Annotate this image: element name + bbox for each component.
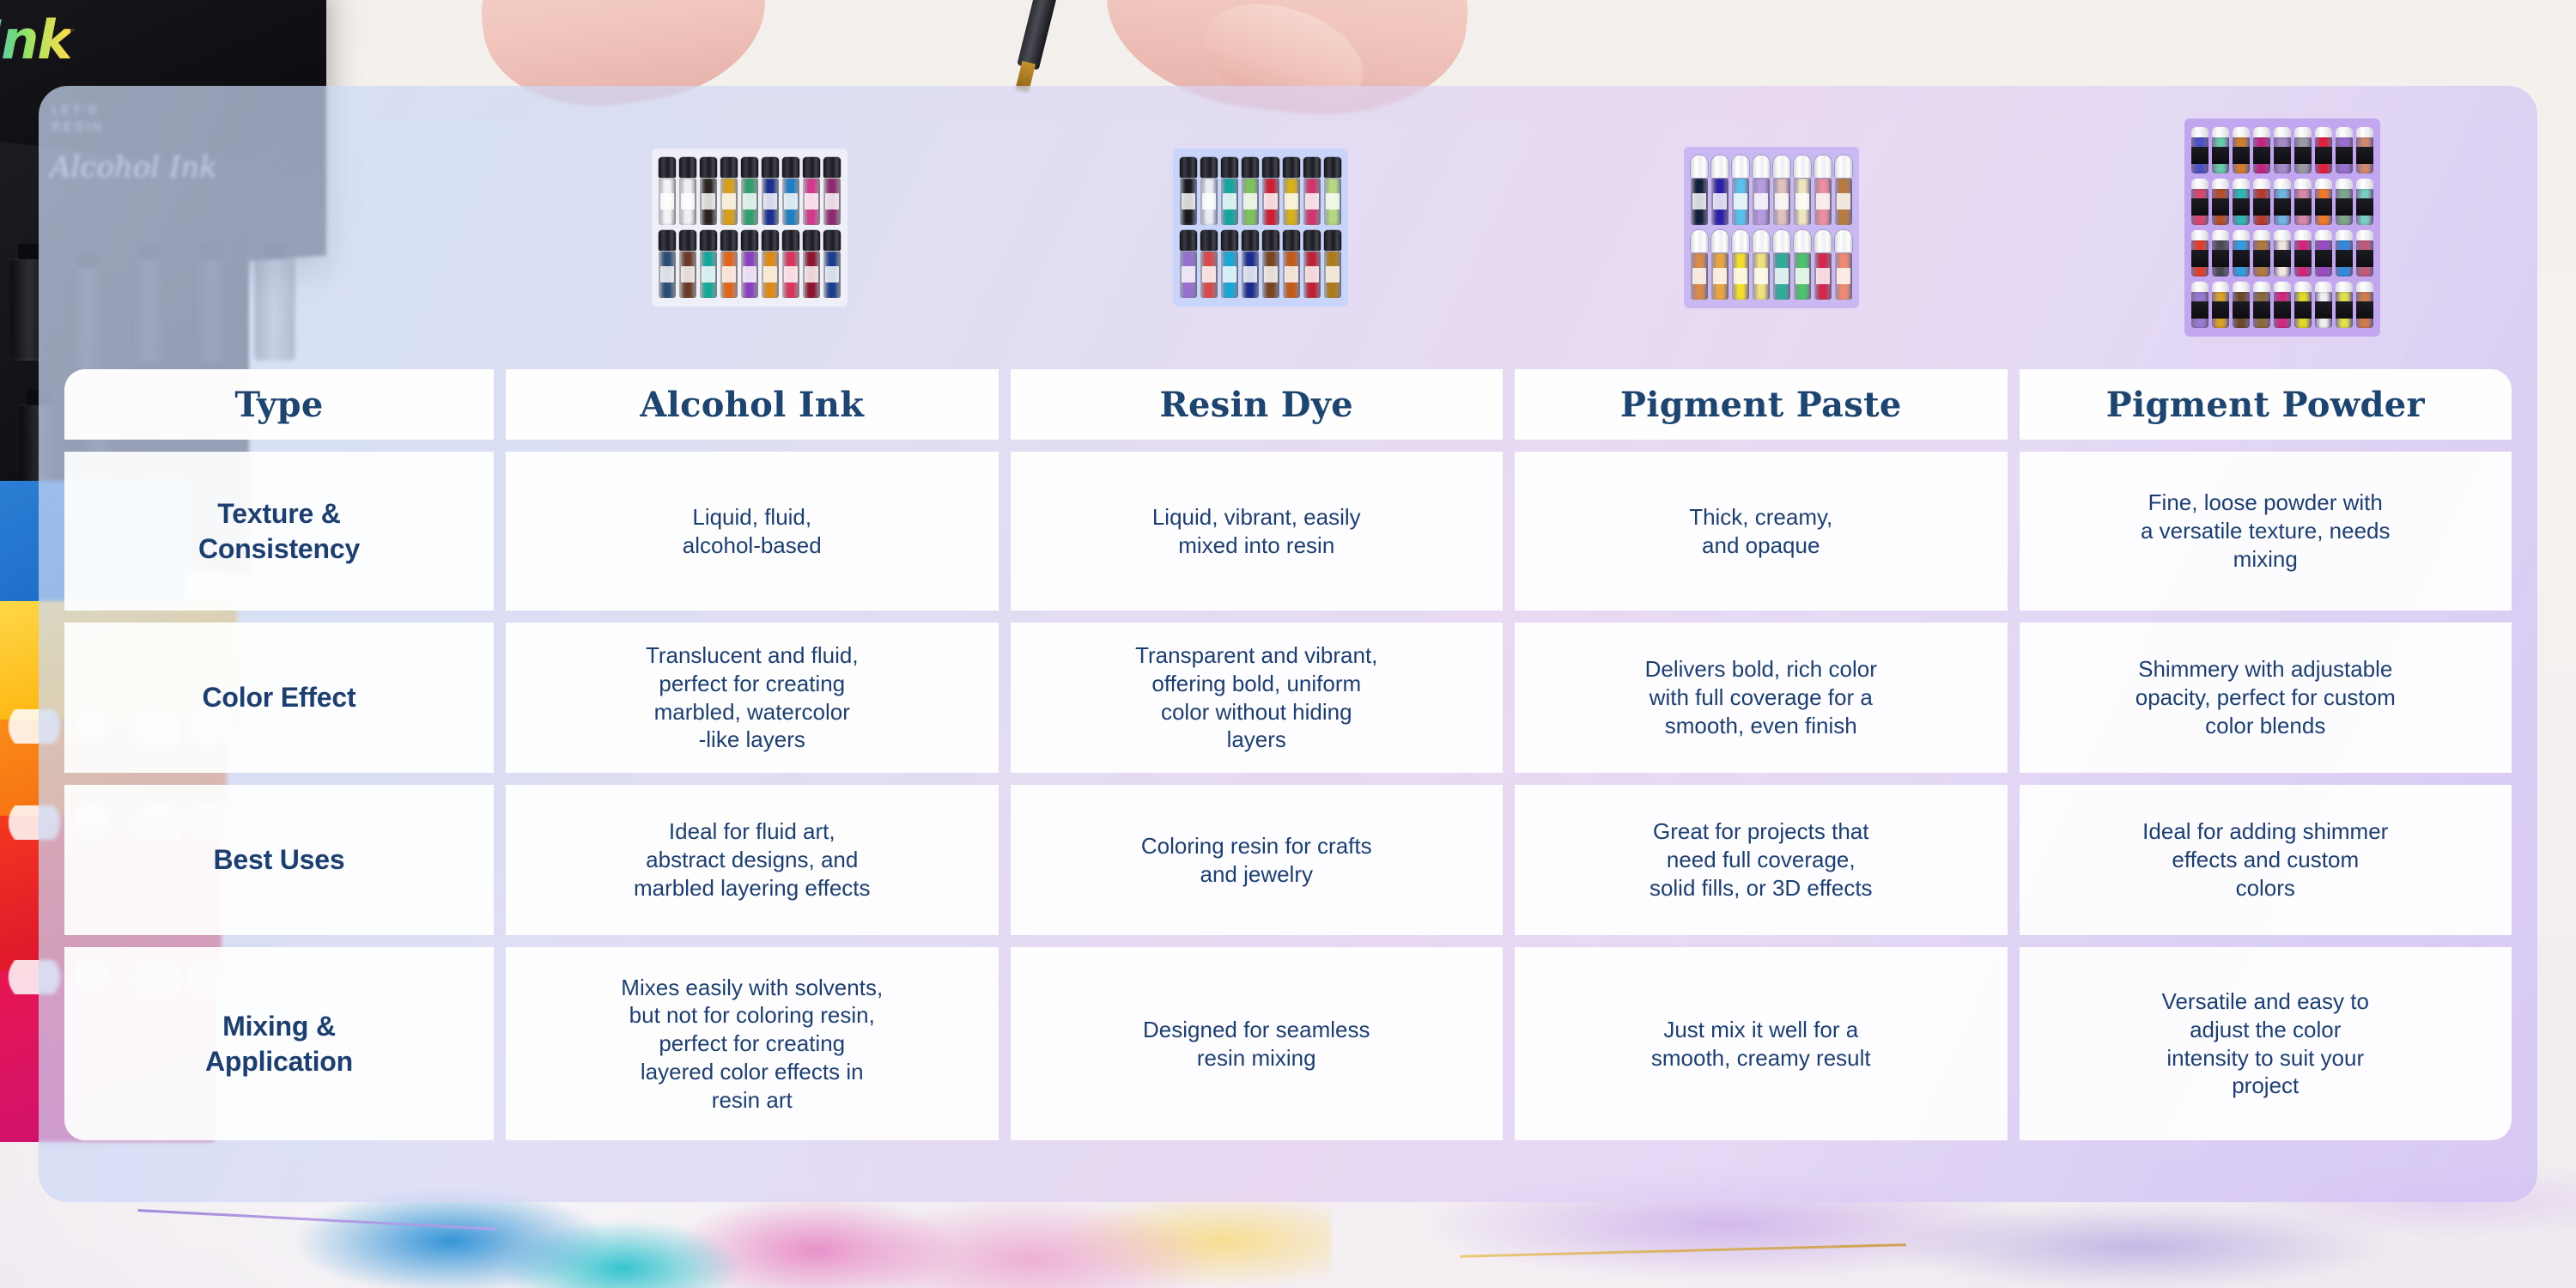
pigment-jar bbox=[2274, 230, 2291, 276]
pigment-jar bbox=[2315, 230, 2332, 276]
row-label-best-uses: Best Uses bbox=[64, 785, 494, 935]
product-body bbox=[2191, 137, 2208, 173]
table-row: Texture & Consistency Liquid, fluid, alc… bbox=[64, 452, 2512, 611]
product-bottle bbox=[782, 157, 799, 225]
bottle-cap bbox=[741, 230, 758, 251]
product-grid-row bbox=[659, 230, 841, 298]
product-body bbox=[2274, 189, 2291, 225]
jar-lid bbox=[2191, 230, 2208, 240]
header-cell-resin-dye: Resin Dye bbox=[1011, 369, 1504, 440]
pigment-jar bbox=[2315, 179, 2332, 225]
product-grid-row bbox=[1180, 157, 1341, 225]
jar-lid bbox=[2336, 230, 2353, 240]
product-bottle bbox=[1753, 230, 1770, 300]
bottle-cap bbox=[1711, 155, 1728, 178]
jar-lid bbox=[2233, 282, 2250, 292]
pigment-jar bbox=[2253, 127, 2270, 173]
product-body bbox=[2294, 292, 2312, 328]
bottle-cap bbox=[659, 230, 676, 251]
product-bottle bbox=[1753, 155, 1770, 225]
product-body bbox=[823, 252, 841, 298]
product-bottle bbox=[679, 230, 696, 298]
bottle-cap bbox=[1691, 230, 1708, 252]
bottle-cap bbox=[720, 230, 738, 251]
product-bottle bbox=[720, 230, 738, 298]
pigment-jar bbox=[2356, 230, 2373, 276]
bottle-cap bbox=[1242, 157, 1259, 178]
product-bottle bbox=[1283, 157, 1300, 225]
product-bottle bbox=[659, 230, 676, 298]
header-cell-type: Type bbox=[64, 369, 494, 440]
bottle-cap bbox=[1303, 157, 1321, 178]
cell-mixing-resin-dye: Designed for seamless resin mixing bbox=[1011, 947, 1504, 1140]
product-bottle bbox=[1732, 155, 1749, 225]
bottle-cap bbox=[803, 230, 820, 251]
product-body bbox=[2336, 137, 2353, 173]
box-ink-wordmark: Ink bbox=[0, 9, 70, 71]
jar-lid bbox=[2253, 282, 2270, 292]
bottle-cap bbox=[1753, 155, 1770, 178]
cell-best-pigment-powder: Ideal for adding shimmer effects and cus… bbox=[2020, 785, 2512, 935]
product-bottle bbox=[1242, 230, 1259, 298]
pigment-jar bbox=[2191, 127, 2208, 173]
jar-lid bbox=[2315, 282, 2332, 292]
product-body bbox=[1814, 253, 1832, 300]
pigment-jar bbox=[2233, 282, 2250, 328]
jar-lid bbox=[2274, 230, 2291, 240]
jar-lid bbox=[2294, 230, 2312, 240]
product-body bbox=[1221, 252, 1238, 298]
bottle-cap bbox=[1753, 230, 1770, 252]
jar-lid bbox=[2294, 179, 2312, 189]
bottle-cap bbox=[1242, 230, 1259, 251]
product-slot bbox=[2026, 86, 2537, 369]
product-body bbox=[762, 179, 779, 225]
product-body bbox=[659, 179, 676, 225]
product-body bbox=[720, 252, 738, 298]
bottle-cap bbox=[1200, 230, 1218, 251]
product-body bbox=[720, 179, 738, 225]
product-body bbox=[2336, 240, 2353, 276]
table-row: Color Effect Translucent and fluid, perf… bbox=[64, 623, 2512, 773]
jar-lid bbox=[2191, 179, 2208, 189]
product-bottle bbox=[1200, 230, 1218, 298]
pigment-paste-bottles bbox=[1684, 147, 1859, 308]
product-body bbox=[2315, 137, 2332, 173]
bottle-cap bbox=[1303, 230, 1321, 251]
pigment-jar bbox=[2253, 179, 2270, 225]
product-bottle bbox=[700, 230, 717, 298]
bottle-cap bbox=[1835, 155, 1852, 178]
bottle-cap bbox=[1835, 230, 1852, 252]
pigment-jar bbox=[2233, 127, 2250, 173]
product-bottle bbox=[1835, 155, 1852, 225]
product-body bbox=[2191, 240, 2208, 276]
product-bottle bbox=[782, 230, 799, 298]
pigment-jar bbox=[2336, 230, 2353, 276]
pigment-jar bbox=[2294, 230, 2312, 276]
product-body bbox=[762, 252, 779, 298]
cell-texture-alcohol-ink: Liquid, fluid, alcohol-based bbox=[506, 452, 999, 611]
pigment-jar bbox=[2294, 179, 2312, 225]
product-bottle bbox=[1283, 230, 1300, 298]
product-body bbox=[1753, 253, 1770, 300]
product-bottle bbox=[1814, 230, 1832, 300]
cell-mixing-pigment-powder: Versatile and easy to adjust the color i… bbox=[2020, 947, 2512, 1140]
header-cell-pigment-paste: Pigment Paste bbox=[1515, 369, 2008, 440]
product-body bbox=[1324, 179, 1341, 225]
product-body bbox=[2294, 189, 2312, 225]
pigment-jar bbox=[2356, 179, 2373, 225]
product-bottle bbox=[1794, 155, 1811, 225]
bottle-cap bbox=[1773, 230, 1790, 252]
pigment-jar bbox=[2212, 127, 2229, 173]
product-body bbox=[2191, 292, 2208, 328]
bottle-cap bbox=[823, 230, 841, 251]
bottle-cap bbox=[1324, 157, 1341, 178]
pigment-jar bbox=[2336, 282, 2353, 328]
cell-color-pigment-powder: Shimmery with adjustable opacity, perfec… bbox=[2020, 623, 2512, 773]
bottle-cap bbox=[679, 157, 696, 178]
product-body bbox=[2356, 137, 2373, 173]
product-body bbox=[1303, 252, 1321, 298]
table-row: Best Uses Ideal for fluid art, abstract … bbox=[64, 785, 2512, 935]
product-bottle bbox=[1221, 230, 1238, 298]
product-body bbox=[2212, 189, 2229, 225]
product-body bbox=[1835, 253, 1852, 300]
pigment-jar bbox=[2253, 230, 2270, 276]
product-body bbox=[2253, 292, 2270, 328]
product-bottle bbox=[1773, 155, 1790, 225]
product-body bbox=[2356, 189, 2373, 225]
bottle-cap bbox=[700, 157, 717, 178]
jar-lid bbox=[2233, 230, 2250, 240]
product-bottle bbox=[803, 157, 820, 225]
product-bottle bbox=[1303, 157, 1321, 225]
bottle-cap bbox=[1691, 155, 1708, 178]
product-body bbox=[1242, 179, 1259, 225]
product-bottle bbox=[1691, 155, 1708, 225]
bottle-cap bbox=[679, 230, 696, 251]
product-grid-row bbox=[1691, 230, 1852, 300]
bottle-cap bbox=[1221, 157, 1238, 178]
product-body bbox=[1773, 179, 1790, 225]
product-body bbox=[2233, 240, 2250, 276]
product-body bbox=[823, 179, 841, 225]
cell-best-alcohol-ink: Ideal for fluid art, abstract designs, a… bbox=[506, 785, 999, 935]
jar-lid bbox=[2253, 230, 2270, 240]
product-body bbox=[2253, 137, 2270, 173]
bottle-cap bbox=[762, 230, 779, 251]
product-bottle bbox=[1324, 157, 1341, 225]
bottle-cap bbox=[1732, 155, 1749, 178]
cell-color-resin-dye: Transparent and vibrant, offering bold, … bbox=[1011, 623, 1504, 773]
product-body bbox=[2253, 189, 2270, 225]
bottle-cap bbox=[1711, 230, 1728, 252]
product-bottle bbox=[679, 157, 696, 225]
product-body bbox=[1794, 179, 1811, 225]
jar-lid bbox=[2356, 127, 2373, 137]
cell-mixing-pigment-paste: Just mix it well for a smooth, creamy re… bbox=[1515, 947, 2008, 1140]
row-label-color-effect: Color Effect bbox=[64, 623, 494, 773]
product-body bbox=[2315, 189, 2332, 225]
product-slot bbox=[494, 86, 1005, 369]
product-body bbox=[741, 252, 758, 298]
cell-best-pigment-paste: Great for projects that need full covera… bbox=[1515, 785, 2008, 935]
jar-lid bbox=[2212, 230, 2229, 240]
bottle-cap bbox=[1794, 155, 1811, 178]
product-bottle bbox=[1711, 230, 1728, 300]
product-bottle bbox=[700, 157, 717, 225]
pigment-jar bbox=[2191, 230, 2208, 276]
product-body bbox=[1180, 252, 1197, 298]
product-bottle bbox=[741, 157, 758, 225]
resin-dye-bottles bbox=[1173, 149, 1348, 307]
product-grid-row bbox=[2191, 230, 2373, 276]
product-grid-row bbox=[1180, 230, 1341, 298]
product-body bbox=[1180, 179, 1197, 225]
product-body bbox=[2315, 240, 2332, 276]
product-slot bbox=[1005, 86, 1516, 369]
pigment-jar bbox=[2233, 179, 2250, 225]
bottle-cap bbox=[1200, 157, 1218, 178]
bottle-cap bbox=[1180, 230, 1197, 251]
jar-lid bbox=[2212, 282, 2229, 292]
product-body bbox=[2212, 137, 2229, 173]
bottle-cap bbox=[1732, 230, 1749, 252]
product-body bbox=[1262, 252, 1279, 298]
product-body bbox=[2212, 240, 2229, 276]
table-row: Mixing & Application Mixes easily with s… bbox=[64, 947, 2512, 1140]
pigment-jar bbox=[2191, 282, 2208, 328]
product-image-strip bbox=[39, 86, 2537, 369]
product-body bbox=[1303, 179, 1321, 225]
jar-lid bbox=[2294, 127, 2312, 137]
product-bottle bbox=[1773, 230, 1790, 300]
product-body bbox=[1200, 179, 1218, 225]
product-bottle bbox=[762, 230, 779, 298]
jar-lid bbox=[2336, 127, 2353, 137]
jar-lid bbox=[2356, 230, 2373, 240]
bottle-cap bbox=[1814, 230, 1832, 252]
product-body bbox=[803, 252, 820, 298]
jar-lid bbox=[2315, 127, 2332, 137]
product-body bbox=[1732, 253, 1749, 300]
product-body bbox=[679, 179, 696, 225]
product-body bbox=[2294, 137, 2312, 173]
product-bottle bbox=[1711, 155, 1728, 225]
bottle-cap bbox=[803, 157, 820, 178]
product-body bbox=[1732, 179, 1749, 225]
product-body bbox=[2356, 292, 2373, 328]
bottle-cap bbox=[720, 157, 738, 178]
alcohol-ink-bottles bbox=[652, 149, 848, 307]
product-bottle bbox=[803, 230, 820, 298]
jar-lid bbox=[2315, 179, 2332, 189]
product-body bbox=[1324, 252, 1341, 298]
cell-texture-pigment-powder: Fine, loose powder with a versatile text… bbox=[2020, 452, 2512, 611]
cell-texture-pigment-paste: Thick, creamy, and opaque bbox=[1515, 452, 2008, 611]
product-bottle bbox=[1835, 230, 1852, 300]
product-bottle bbox=[1221, 157, 1238, 225]
product-body bbox=[1283, 252, 1300, 298]
bottle-cap bbox=[762, 157, 779, 178]
bottle-cap bbox=[823, 157, 841, 178]
product-bottle bbox=[823, 230, 841, 298]
bottle-cap bbox=[1283, 230, 1300, 251]
product-body bbox=[2274, 292, 2291, 328]
pigment-jar bbox=[2274, 127, 2291, 173]
product-body bbox=[700, 179, 717, 225]
product-body bbox=[679, 252, 696, 298]
product-body bbox=[1711, 179, 1728, 225]
product-body bbox=[782, 252, 799, 298]
product-body bbox=[1753, 179, 1770, 225]
product-bottle bbox=[1180, 157, 1197, 225]
product-body bbox=[1200, 252, 1218, 298]
bottle-cap bbox=[1180, 157, 1197, 178]
comparison-table: Type Alcohol Ink Resin Dye Pigment Paste… bbox=[39, 369, 2537, 1202]
jar-lid bbox=[2274, 282, 2291, 292]
bottle-cap bbox=[1262, 157, 1279, 178]
pigment-jar bbox=[2336, 179, 2353, 225]
product-body bbox=[1242, 252, 1259, 298]
product-body bbox=[1835, 179, 1852, 225]
product-body bbox=[2336, 189, 2353, 225]
product-bottle bbox=[1814, 155, 1832, 225]
product-grid-row bbox=[2191, 282, 2373, 328]
jar-lid bbox=[2191, 127, 2208, 137]
pigment-jar bbox=[2212, 179, 2229, 225]
table-header-row: Type Alcohol Ink Resin Dye Pigment Paste… bbox=[64, 369, 2512, 440]
jar-lid bbox=[2294, 282, 2312, 292]
product-slot-spacer bbox=[39, 86, 494, 369]
product-body bbox=[1691, 179, 1708, 225]
comparison-card: Type Alcohol Ink Resin Dye Pigment Paste… bbox=[39, 86, 2537, 1202]
product-body bbox=[1221, 179, 1238, 225]
header-cell-pigment-powder: Pigment Powder bbox=[2020, 369, 2512, 440]
jar-lid bbox=[2336, 179, 2353, 189]
pigment-jar bbox=[2212, 230, 2229, 276]
pigment-jar bbox=[2253, 282, 2270, 328]
product-grid-row bbox=[1691, 155, 1852, 225]
product-bottle bbox=[1732, 230, 1749, 300]
product-body bbox=[700, 252, 717, 298]
jar-lid bbox=[2274, 127, 2291, 137]
bottle-cap bbox=[1814, 155, 1832, 178]
pigment-jar bbox=[2315, 127, 2332, 173]
jar-lid bbox=[2212, 179, 2229, 189]
product-body bbox=[2212, 292, 2229, 328]
product-bottle bbox=[823, 157, 841, 225]
cell-color-alcohol-ink: Translucent and fluid, perfect for creat… bbox=[506, 623, 999, 773]
product-body bbox=[2233, 292, 2250, 328]
product-grid-row bbox=[659, 157, 841, 225]
bottle-cap bbox=[782, 230, 799, 251]
product-bottle bbox=[659, 157, 676, 225]
product-bottle bbox=[1242, 157, 1259, 225]
pigment-jar bbox=[2294, 127, 2312, 173]
product-bottle bbox=[1262, 230, 1279, 298]
jar-lid bbox=[2336, 282, 2353, 292]
product-body bbox=[2253, 240, 2270, 276]
product-bottle bbox=[720, 157, 738, 225]
product-body bbox=[1691, 253, 1708, 300]
product-grid-row bbox=[2191, 127, 2373, 173]
pigment-jar bbox=[2191, 179, 2208, 225]
product-body bbox=[659, 252, 676, 298]
product-bottle bbox=[1324, 230, 1341, 298]
pigment-jar bbox=[2336, 127, 2353, 173]
product-bottle bbox=[762, 157, 779, 225]
bottle-cap bbox=[1221, 230, 1238, 251]
product-body bbox=[2315, 292, 2332, 328]
product-body bbox=[1283, 179, 1300, 225]
product-grid-row bbox=[2191, 179, 2373, 225]
jar-lid bbox=[2356, 282, 2373, 292]
product-bottle bbox=[1303, 230, 1321, 298]
product-bottle bbox=[741, 230, 758, 298]
jar-lid bbox=[2212, 127, 2229, 137]
pigment-jar bbox=[2274, 179, 2291, 225]
product-body bbox=[803, 179, 820, 225]
bottle-cap bbox=[782, 157, 799, 178]
product-body bbox=[1814, 179, 1832, 225]
jar-lid bbox=[2233, 179, 2250, 189]
jar-lid bbox=[2191, 282, 2208, 292]
bottle-cap bbox=[659, 157, 676, 178]
bottle-cap bbox=[1324, 230, 1341, 251]
jar-lid bbox=[2274, 179, 2291, 189]
row-label-mixing-application: Mixing & Application bbox=[64, 947, 494, 1140]
product-body bbox=[2356, 240, 2373, 276]
product-body bbox=[2191, 189, 2208, 225]
jar-lid bbox=[2356, 179, 2373, 189]
product-bottle bbox=[1200, 157, 1218, 225]
pigment-jar bbox=[2294, 282, 2312, 328]
cell-mixing-alcohol-ink: Mixes easily with solvents, but not for … bbox=[506, 947, 999, 1140]
product-body bbox=[2336, 292, 2353, 328]
row-label-texture-consistency: Texture & Consistency bbox=[64, 452, 494, 611]
product-body bbox=[2233, 137, 2250, 173]
bottle-cap bbox=[1283, 157, 1300, 178]
pigment-jar bbox=[2356, 282, 2373, 328]
cell-color-pigment-paste: Delivers bold, rich color with full cove… bbox=[1515, 623, 2008, 773]
product-body bbox=[2233, 189, 2250, 225]
jar-lid bbox=[2233, 127, 2250, 137]
product-body bbox=[1262, 179, 1279, 225]
product-bottle bbox=[1691, 230, 1708, 300]
pigment-jar bbox=[2212, 282, 2229, 328]
pigment-jar bbox=[2274, 282, 2291, 328]
product-body bbox=[2294, 240, 2312, 276]
product-slot bbox=[1516, 86, 2026, 369]
product-body bbox=[741, 179, 758, 225]
bottle-cap bbox=[1773, 155, 1790, 178]
bottle-cap bbox=[700, 230, 717, 251]
pigment-jar bbox=[2315, 282, 2332, 328]
bottle-cap bbox=[741, 157, 758, 178]
product-body bbox=[2274, 240, 2291, 276]
pigment-powder-jars bbox=[2184, 118, 2380, 337]
product-bottle bbox=[1262, 157, 1279, 225]
jar-lid bbox=[2253, 127, 2270, 137]
bottle-cap bbox=[1794, 230, 1811, 252]
cell-best-resin-dye: Coloring resin for crafts and jewelry bbox=[1011, 785, 1504, 935]
cell-texture-resin-dye: Liquid, vibrant, easily mixed into resin bbox=[1011, 452, 1504, 611]
jar-lid bbox=[2253, 179, 2270, 189]
bottle-cap bbox=[1262, 230, 1279, 251]
